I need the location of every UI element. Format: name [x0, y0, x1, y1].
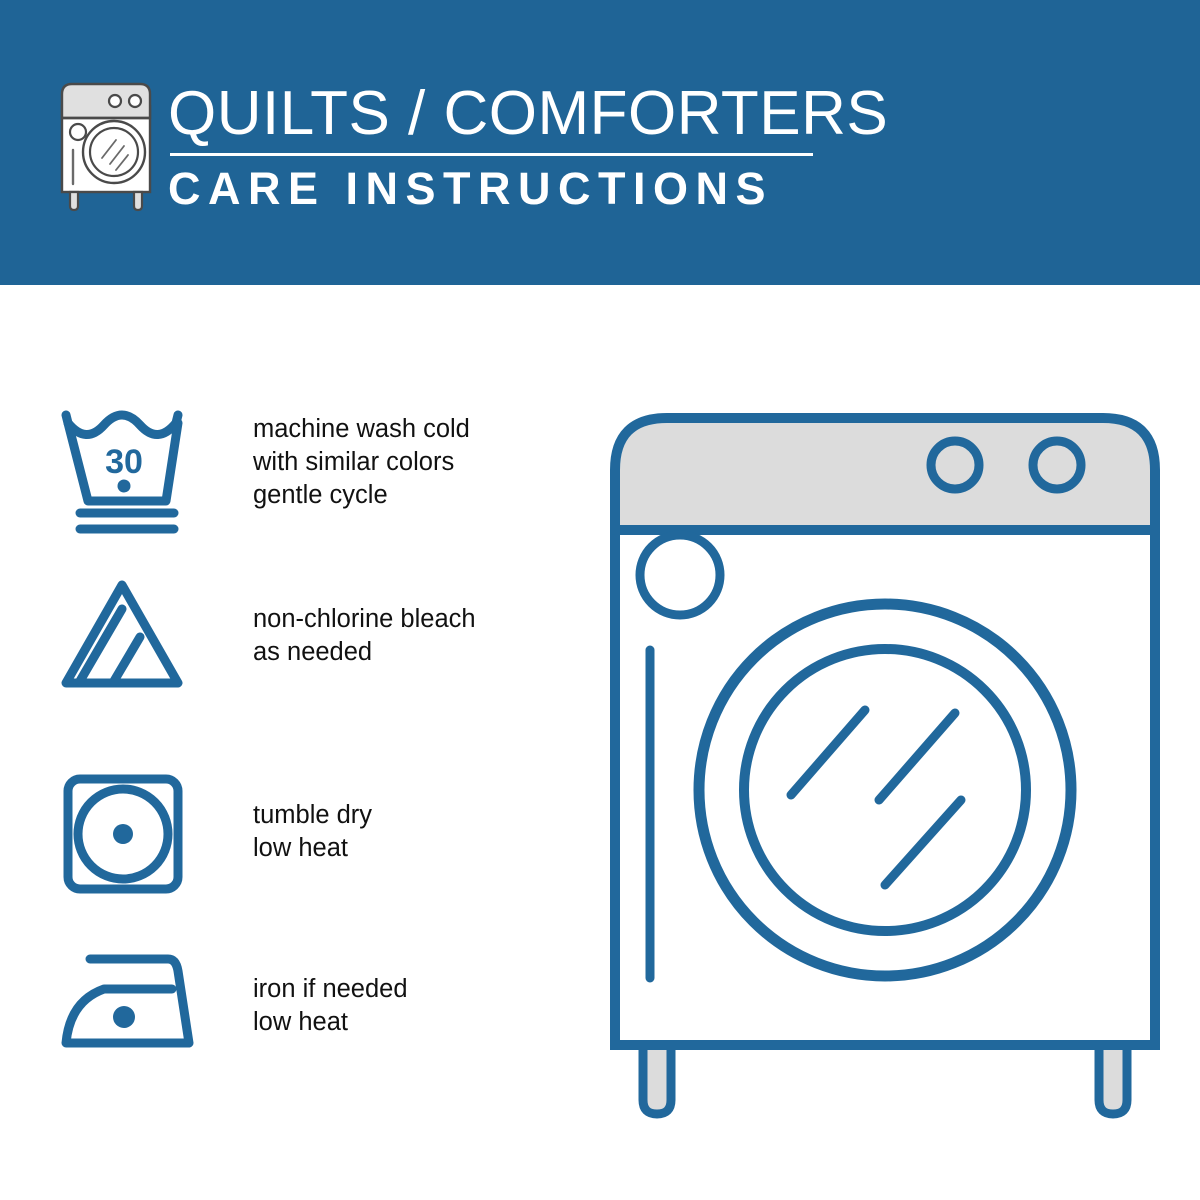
care-text-line: low heat: [253, 832, 372, 865]
care-text-line: as needed: [253, 636, 476, 669]
care-text-line: with similar colors: [253, 446, 470, 479]
care-text-line: low heat: [253, 1006, 408, 1039]
care-row: iron if needed low heat: [0, 945, 560, 1115]
title-divider: [170, 153, 813, 156]
tumble-dry-low-heat-icon: [56, 771, 206, 901]
care-text-line: tumble dry: [253, 799, 372, 832]
header-text-block: QUILTS / COMFORTERS CARE INSTRUCTIONS: [168, 82, 818, 212]
care-text-line: iron if needed: [253, 973, 408, 1006]
iron-low-heat-icon: [56, 945, 206, 1075]
care-text: tumble dry low heat: [253, 799, 372, 865]
care-row: non-chlorine bleach as needed: [0, 575, 560, 745]
washing-machine-illustration: [595, 400, 1175, 1130]
care-text-line: non-chlorine bleach: [253, 603, 476, 636]
care-text-line: gentle cycle: [253, 479, 470, 512]
washing-machine-icon: [52, 80, 162, 215]
care-row: 30 machine wash cold with similar colors…: [0, 403, 560, 573]
leg-left: [643, 1040, 671, 1114]
wash-temperature-label: 30: [105, 443, 143, 481]
wash-tub-30-gentle-icon: 30: [56, 403, 206, 533]
care-instructions-infographic: QUILTS / COMFORTERS CARE INSTRUCTIONS: [0, 0, 1200, 1200]
care-text: iron if needed low heat: [253, 973, 408, 1039]
care-row: tumble dry low heat: [0, 771, 560, 941]
non-chlorine-bleach-triangle-icon: [56, 575, 206, 705]
care-text-line: machine wash cold: [253, 413, 470, 446]
indicator-circle: [640, 535, 720, 615]
care-text: non-chlorine bleach as needed: [253, 603, 476, 669]
dial-left: [931, 441, 979, 489]
care-symbol-list: 30 machine wash cold with similar colors…: [0, 285, 560, 1200]
care-text: machine wash cold with similar colors ge…: [253, 413, 470, 512]
page-title: QUILTS / COMFORTERS: [168, 82, 818, 146]
leg-right: [1099, 1040, 1127, 1114]
page-subtitle: CARE INSTRUCTIONS: [168, 165, 818, 212]
header-banner: QUILTS / COMFORTERS CARE INSTRUCTIONS: [0, 0, 1200, 285]
dial-right: [1033, 441, 1081, 489]
